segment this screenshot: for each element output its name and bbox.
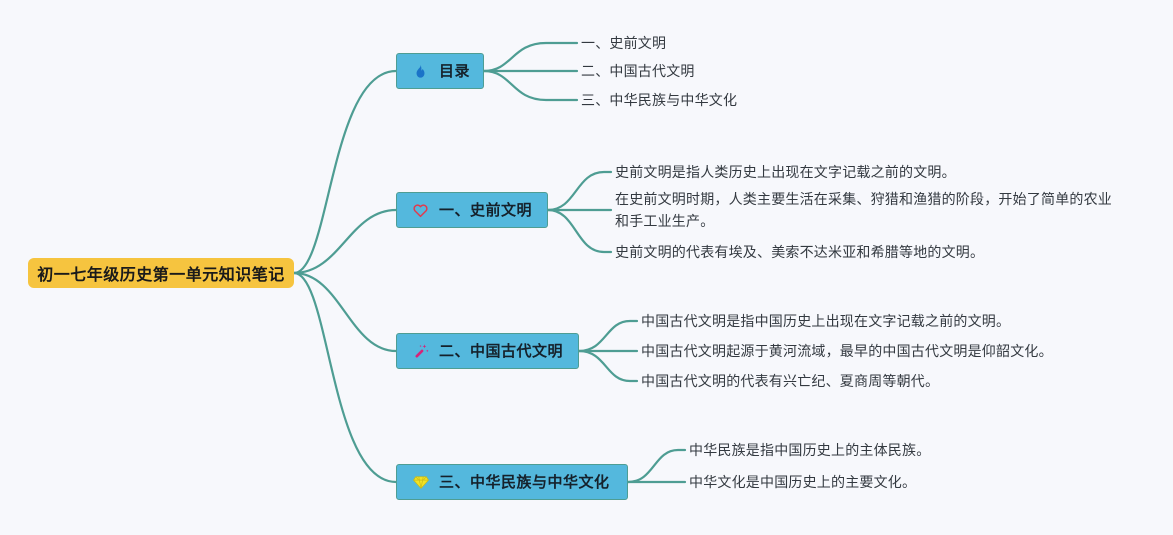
link-root-prehistoric xyxy=(294,210,396,273)
leaf-contents-1[interactable]: 一、史前文明 xyxy=(581,32,666,54)
leaf-text: 史前文明的代表有埃及、美索不达米亚和希腊等地的文明。 xyxy=(615,244,984,260)
link-root-contents xyxy=(294,71,396,273)
leaf-prehistoric-3[interactable]: 史前文明的代表有埃及、美索不达米亚和希腊等地的文明。 xyxy=(615,241,984,263)
leaf-text: 三、中华民族与中华文化 xyxy=(581,92,737,108)
leaf-contents-3[interactable]: 三、中华民族与中华文化 xyxy=(581,89,737,111)
diamond-icon xyxy=(411,473,430,492)
leaf-text: 二、中国古代文明 xyxy=(581,63,695,79)
leaf-text: 中华文化是中国历史上的主要文化。 xyxy=(689,474,916,490)
leaf-text: 中国古代文明的代表有兴亡纪、夏商周等朝代。 xyxy=(641,373,939,389)
leaf-ancient-china-3[interactable]: 中国古代文明的代表有兴亡纪、夏商周等朝代。 xyxy=(641,370,939,392)
link-prehistoric-leaf-1 xyxy=(548,172,611,210)
leaf-prehistoric-2[interactable]: 在史前文明时期，人类主要生活在采集、狩猎和渔猎的阶段，开始了简单的农业和手工业生… xyxy=(615,188,1113,232)
leaf-text: 在史前文明时期，人类主要生活在采集、狩猎和渔猎的阶段，开始了简单的农业和手工业生… xyxy=(615,191,1112,229)
leaf-prehistoric-1[interactable]: 史前文明是指人类历史上出现在文字记载之前的文明。 xyxy=(615,161,956,183)
mindmap-canvas: 初一七年级历史第一单元知识笔记 目录 一、史前文明 二、中国古代文明 三、中华民… xyxy=(0,0,1173,535)
root-node[interactable]: 初一七年级历史第一单元知识笔记 xyxy=(28,258,294,288)
magic-wand-icon xyxy=(411,342,430,361)
branch-node-ancient-china[interactable]: 二、中国古代文明 xyxy=(396,333,579,369)
root-node-label: 初一七年级历史第一单元知识笔记 xyxy=(37,261,285,285)
link-prehistoric-leaf-3 xyxy=(548,210,611,252)
leaf-text: 史前文明是指人类历史上出现在文字记载之前的文明。 xyxy=(615,164,956,180)
leaf-contents-2[interactable]: 二、中国古代文明 xyxy=(581,60,695,82)
link-root-ancient-china xyxy=(294,273,396,351)
leaf-ancient-china-1[interactable]: 中国古代文明是指中国历史上出现在文字记载之前的文明。 xyxy=(641,310,1010,332)
link-root-chinese-nation xyxy=(294,273,396,482)
link-ancient-china-leaf-3 xyxy=(579,351,637,381)
leaf-text: 中国古代文明是指中国历史上出现在文字记载之前的文明。 xyxy=(641,313,1010,329)
link-ancient-china-leaf-1 xyxy=(579,321,637,351)
link-contents-leaf-1 xyxy=(484,43,577,71)
leaf-text: 一、史前文明 xyxy=(581,35,666,51)
link-chinese-nation-leaf-1 xyxy=(628,450,685,482)
branch-node-prehistoric[interactable]: 一、史前文明 xyxy=(396,192,548,228)
branch-label-contents: 目录 xyxy=(439,64,470,79)
leaf-text: 中国古代文明起源于黄河流域，最早的中国古代文明是仰韶文化。 xyxy=(641,343,1053,359)
leaf-chinese-nation-1[interactable]: 中华民族是指中国历史上的主体民族。 xyxy=(689,439,930,461)
leaf-ancient-china-2[interactable]: 中国古代文明起源于黄河流域，最早的中国古代文明是仰韶文化。 xyxy=(641,340,1053,362)
flame-icon xyxy=(411,62,430,81)
leaf-text: 中华民族是指中国历史上的主体民族。 xyxy=(689,442,930,458)
branch-node-contents[interactable]: 目录 xyxy=(396,53,484,89)
branch-node-chinese-nation[interactable]: 三、中华民族与中华文化 xyxy=(396,464,628,500)
heart-icon xyxy=(411,201,430,220)
branch-label-prehistoric: 一、史前文明 xyxy=(439,203,532,218)
link-contents-leaf-3 xyxy=(484,71,577,100)
leaf-chinese-nation-2[interactable]: 中华文化是中国历史上的主要文化。 xyxy=(689,471,916,493)
branch-label-chinese-nation: 三、中华民族与中华文化 xyxy=(439,475,610,490)
branch-label-ancient-china: 二、中国古代文明 xyxy=(439,344,563,359)
